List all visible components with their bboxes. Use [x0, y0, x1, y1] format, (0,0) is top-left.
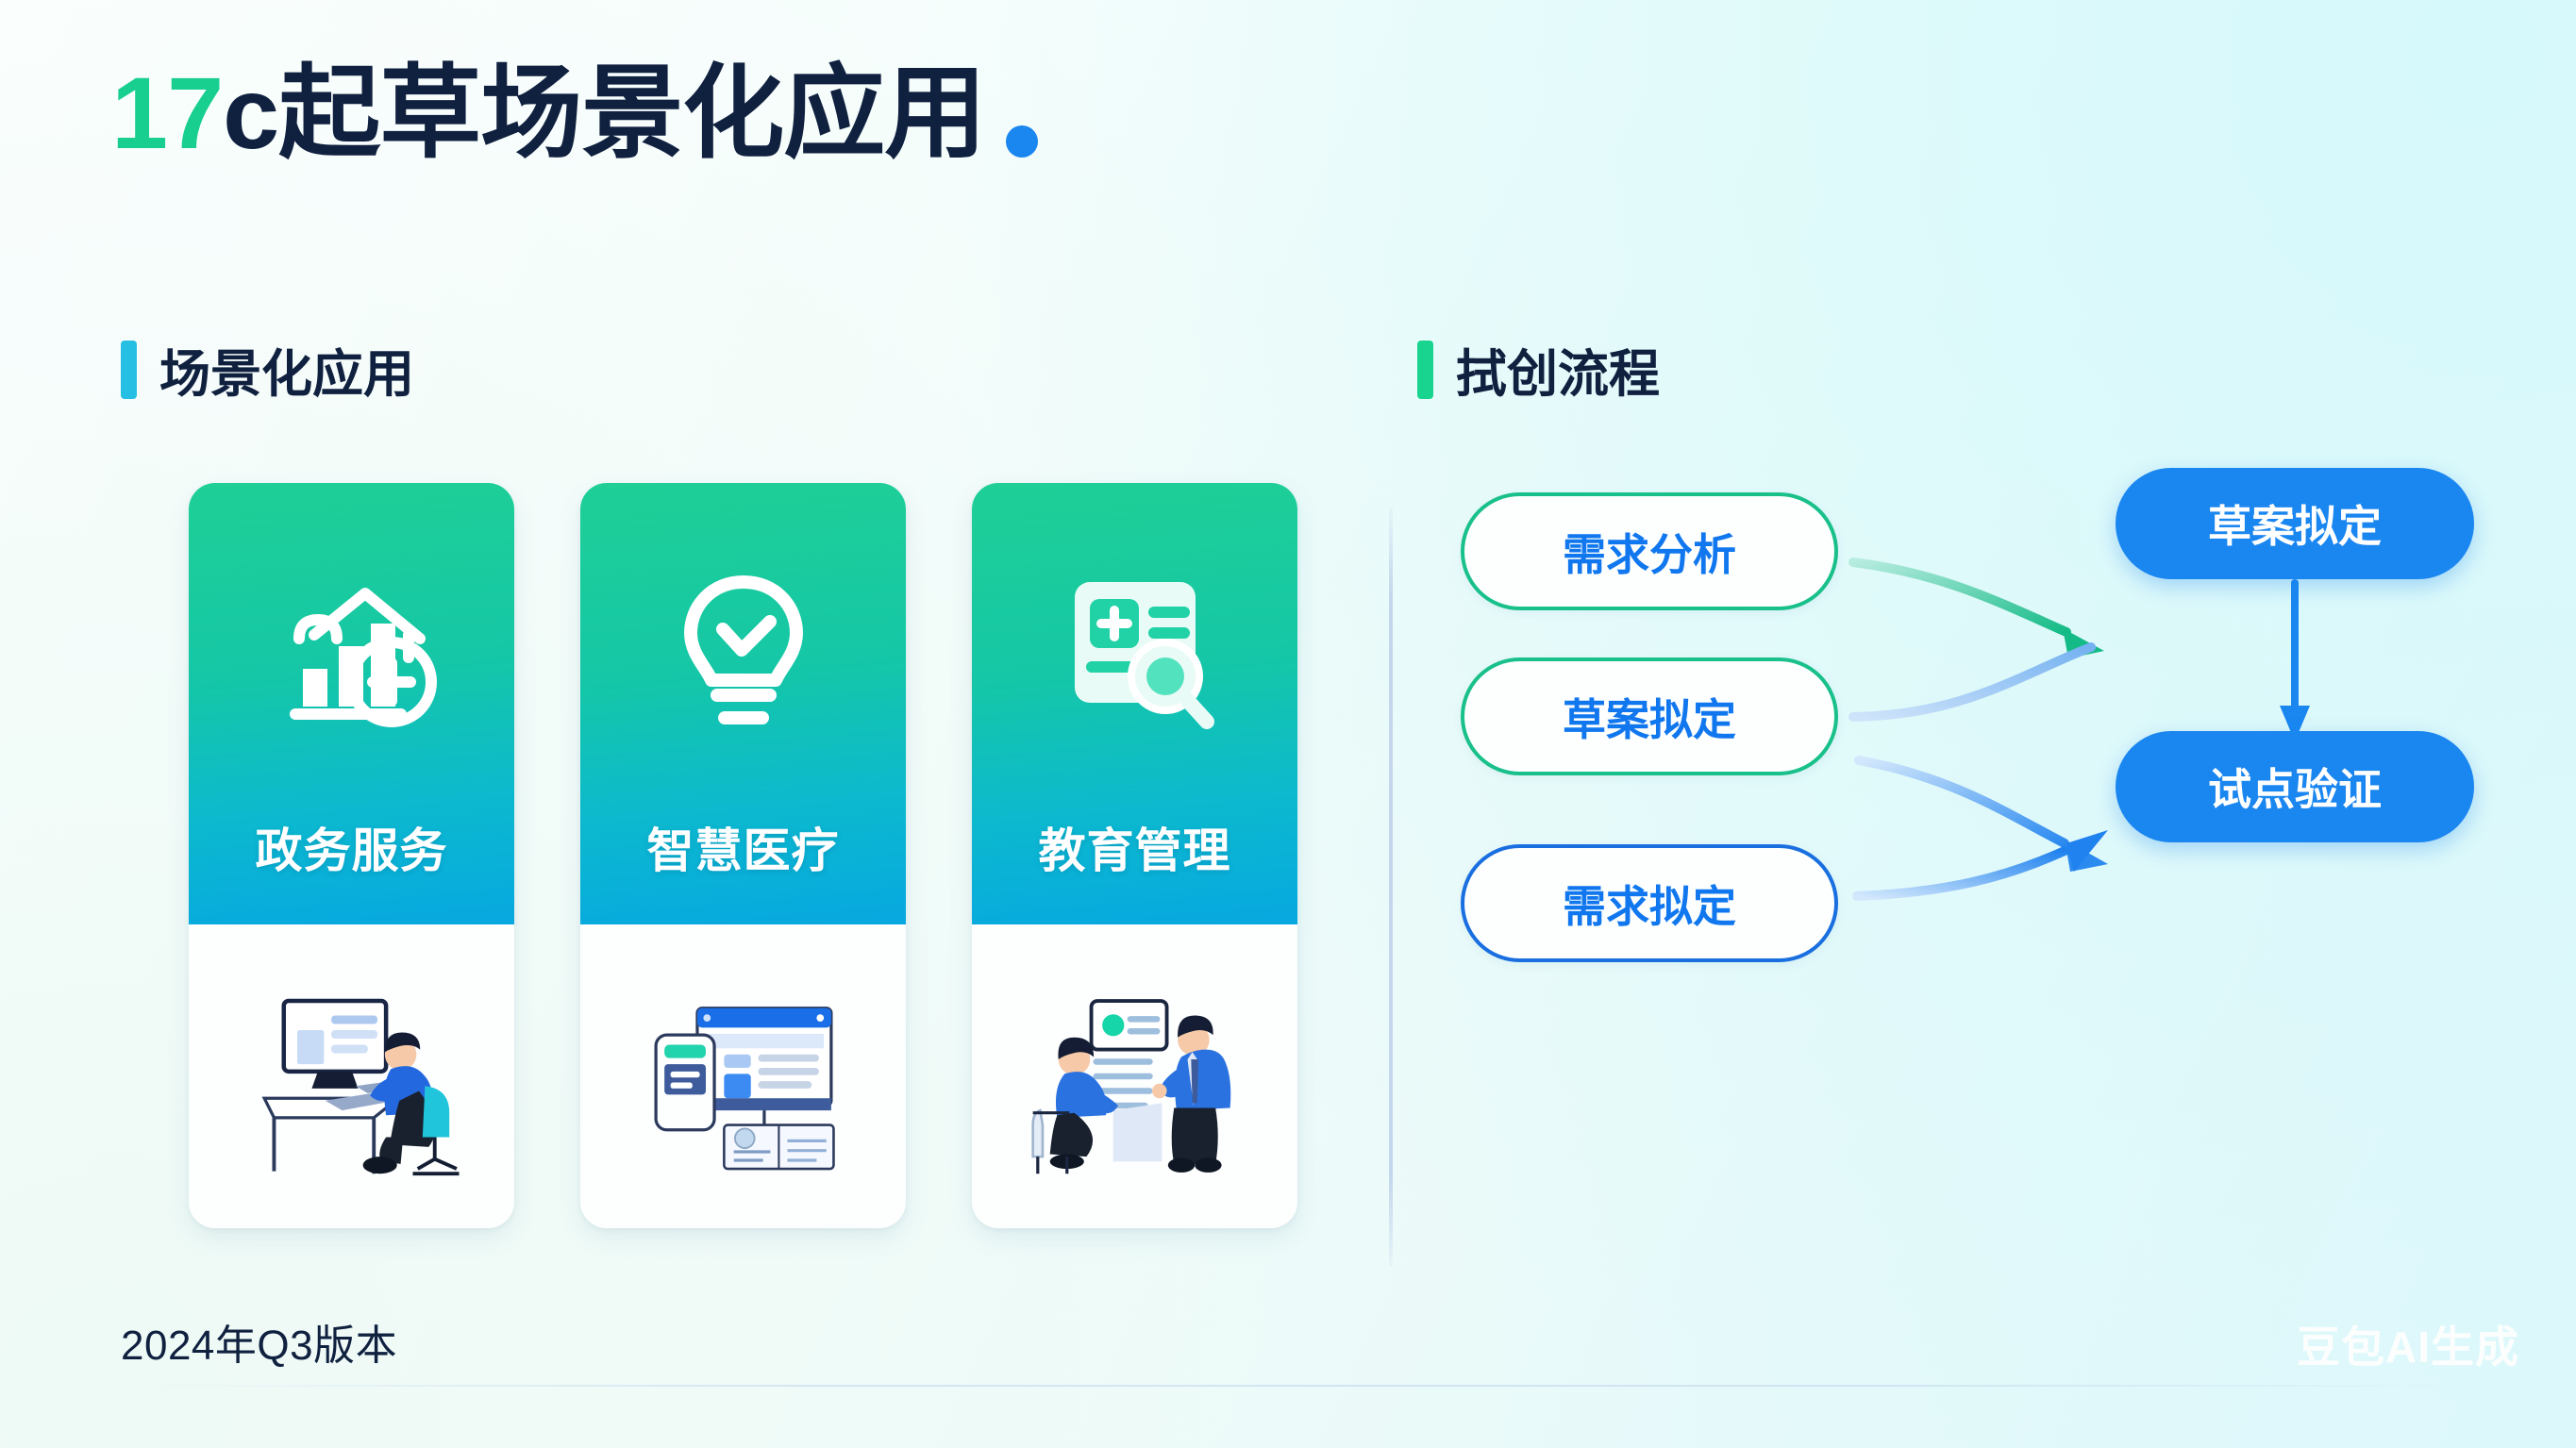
flow-node-label: 需求分析: [1563, 521, 1736, 583]
card-label: 政务服务: [189, 813, 514, 881]
person-at-desk-with-monitor-illustration: [189, 924, 514, 1228]
process-flow-diagram: 需求分析 草案拟定 需求拟定 草案拟定 试点验证: [1453, 462, 2519, 1273]
calculator-magnifier-icon: [1041, 564, 1229, 743]
scenario-card-healthcare[interactable]: 智慧医疗: [580, 483, 906, 1228]
flow-node-label: 试点验证: [2208, 756, 2382, 818]
scenario-card-government[interactable]: 政务服务: [189, 483, 514, 1228]
flow-node-pilot[interactable]: 试点验证: [2116, 731, 2474, 842]
flow-node-label: 需求拟定: [1563, 873, 1736, 935]
version-label: 2024年Q3版本: [121, 1311, 397, 1372]
flow-node-draft-right[interactable]: 草案拟定: [2116, 468, 2474, 579]
watermark-label: 豆包AI生成: [2297, 1313, 2519, 1375]
card-header: 智慧医疗: [580, 483, 906, 924]
page-title: 17c起草场景化应用: [111, 58, 1038, 169]
section-accent-bar-icon: [121, 341, 137, 399]
card-header: 政务服务: [189, 483, 514, 924]
page-title-accent: 17: [111, 58, 223, 169]
flow-node-req-draft[interactable]: 需求拟定: [1461, 844, 1838, 962]
footer-divider: [111, 1385, 2465, 1387]
two-people-meeting-illustration: [972, 924, 1297, 1228]
card-label: 教育管理: [972, 813, 1297, 881]
section-header-process: 拭创流程: [1417, 332, 1660, 407]
scenario-card-list: 政务服务: [189, 483, 1297, 1228]
title-dot-icon: [1006, 125, 1038, 158]
lightbulb-check-icon: [649, 564, 838, 743]
scenario-card-education[interactable]: 教育管理: [972, 483, 1297, 1228]
vertical-divider: [1389, 508, 1393, 1267]
card-label: 智慧医疗: [580, 813, 906, 881]
flow-node-req-analysis[interactable]: 需求分析: [1461, 492, 1838, 610]
page-title-rest: c起草场景化应用: [223, 58, 985, 169]
flow-node-label: 草案拟定: [1563, 686, 1736, 748]
section-header-process-label: 拭创流程: [1456, 332, 1660, 407]
section-accent-bar-icon: [1417, 341, 1433, 399]
house-bar-chart-plus-icon: [258, 564, 446, 743]
section-header-scenarios-label: 场景化应用: [159, 332, 414, 407]
phone-and-dashboard-windows-illustration: [580, 924, 906, 1228]
card-header: 教育管理: [972, 483, 1297, 924]
section-header-scenarios: 场景化应用: [121, 332, 414, 407]
flow-node-label: 草案拟定: [2208, 492, 2382, 555]
slide-canvas: 17c起草场景化应用 场景化应用 拭创流程: [0, 0, 2576, 1448]
flow-node-draft-left[interactable]: 草案拟定: [1461, 657, 1838, 775]
